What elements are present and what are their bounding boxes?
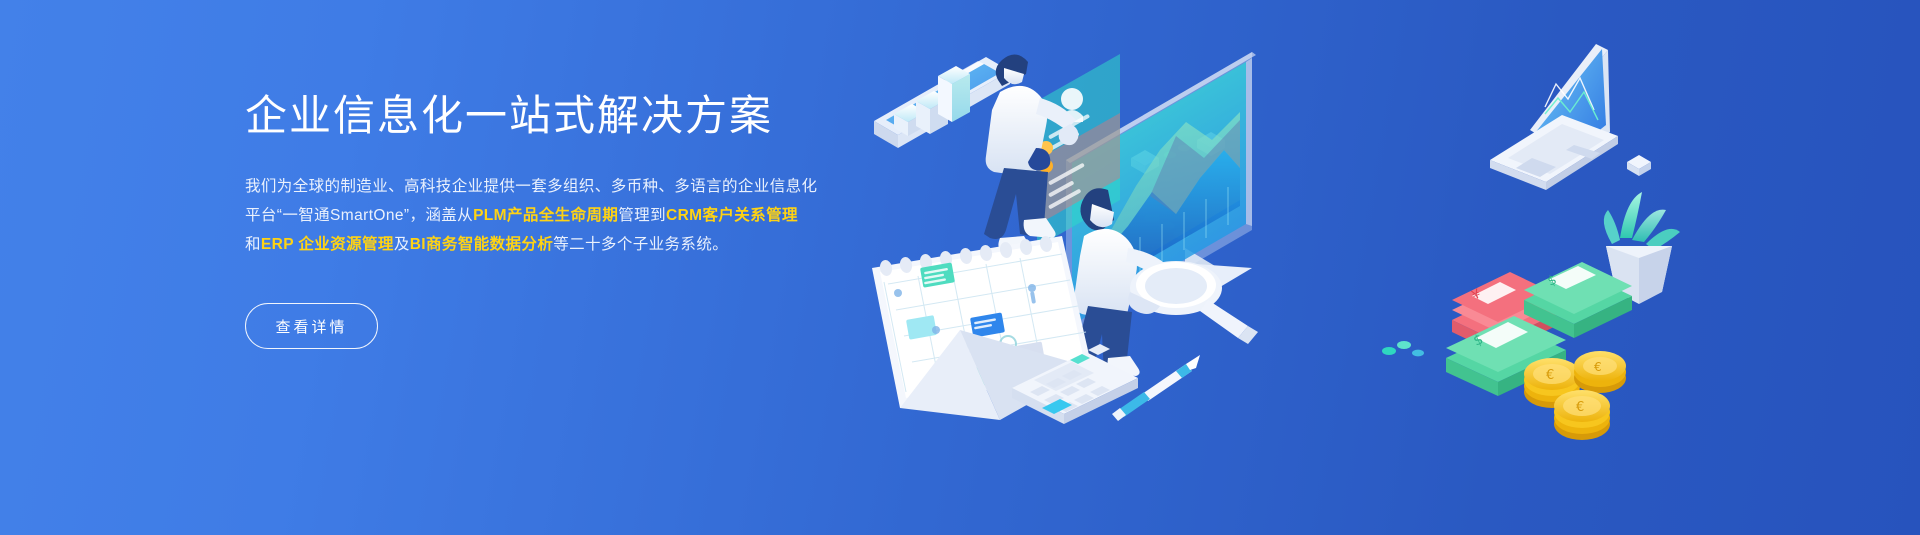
laptop-line-chart (1490, 44, 1618, 190)
page-title: 企业信息化一站式解决方案 (245, 88, 965, 144)
gold-coin-stacks: € € € (1524, 351, 1626, 440)
hero-copy: 企业信息化一站式解决方案 我们为全球的制造业、高科技企业提供一套多组织、多币种、… (245, 88, 965, 259)
body-text: 及 (394, 236, 410, 253)
paragraph-line-3: 和ERP 企业资源管理及BI商务智能数据分析等二十多个子业务系统。 (245, 230, 965, 259)
svg-text:€: € (1576, 400, 1584, 415)
body-text: 等二十多个子业务系统。 (553, 236, 728, 253)
body-text: 我们为全球的制造业、高科技企业提供一套多组织、多币种、多语言的企业信息化 (245, 178, 817, 195)
paragraph-line-1: 我们为全球的制造业、高科技企业提供一套多组织、多币种、多语言的企业信息化 (245, 172, 965, 201)
highlight-term: PLM产品全生命周期 (473, 207, 618, 224)
body-text: 管理到 (618, 207, 666, 224)
body-text: 平台“一智通SmartOne”，涵盖从 (245, 207, 473, 224)
svg-text:€: € (1594, 360, 1602, 374)
svg-text:€: € (1546, 368, 1554, 383)
hero-illustration: ¥ $ $ € (0, 0, 1920, 535)
body-text: 和 (245, 236, 261, 253)
highlight-term: ERP 企业资源管理 (261, 236, 394, 253)
hero-paragraph: 我们为全球的制造业、高科技企业提供一套多组织、多币种、多语言的企业信息化 平台“… (245, 172, 965, 259)
highlight-term: CRM客户关系管理 (666, 207, 798, 224)
hero-banner: ¥ $ $ € (0, 0, 1920, 535)
paragraph-line-2: 平台“一智通SmartOne”，涵盖从PLM产品全生命周期管理到CRM客户关系管… (245, 201, 965, 230)
highlight-term: BI商务智能数据分析 (410, 236, 554, 253)
